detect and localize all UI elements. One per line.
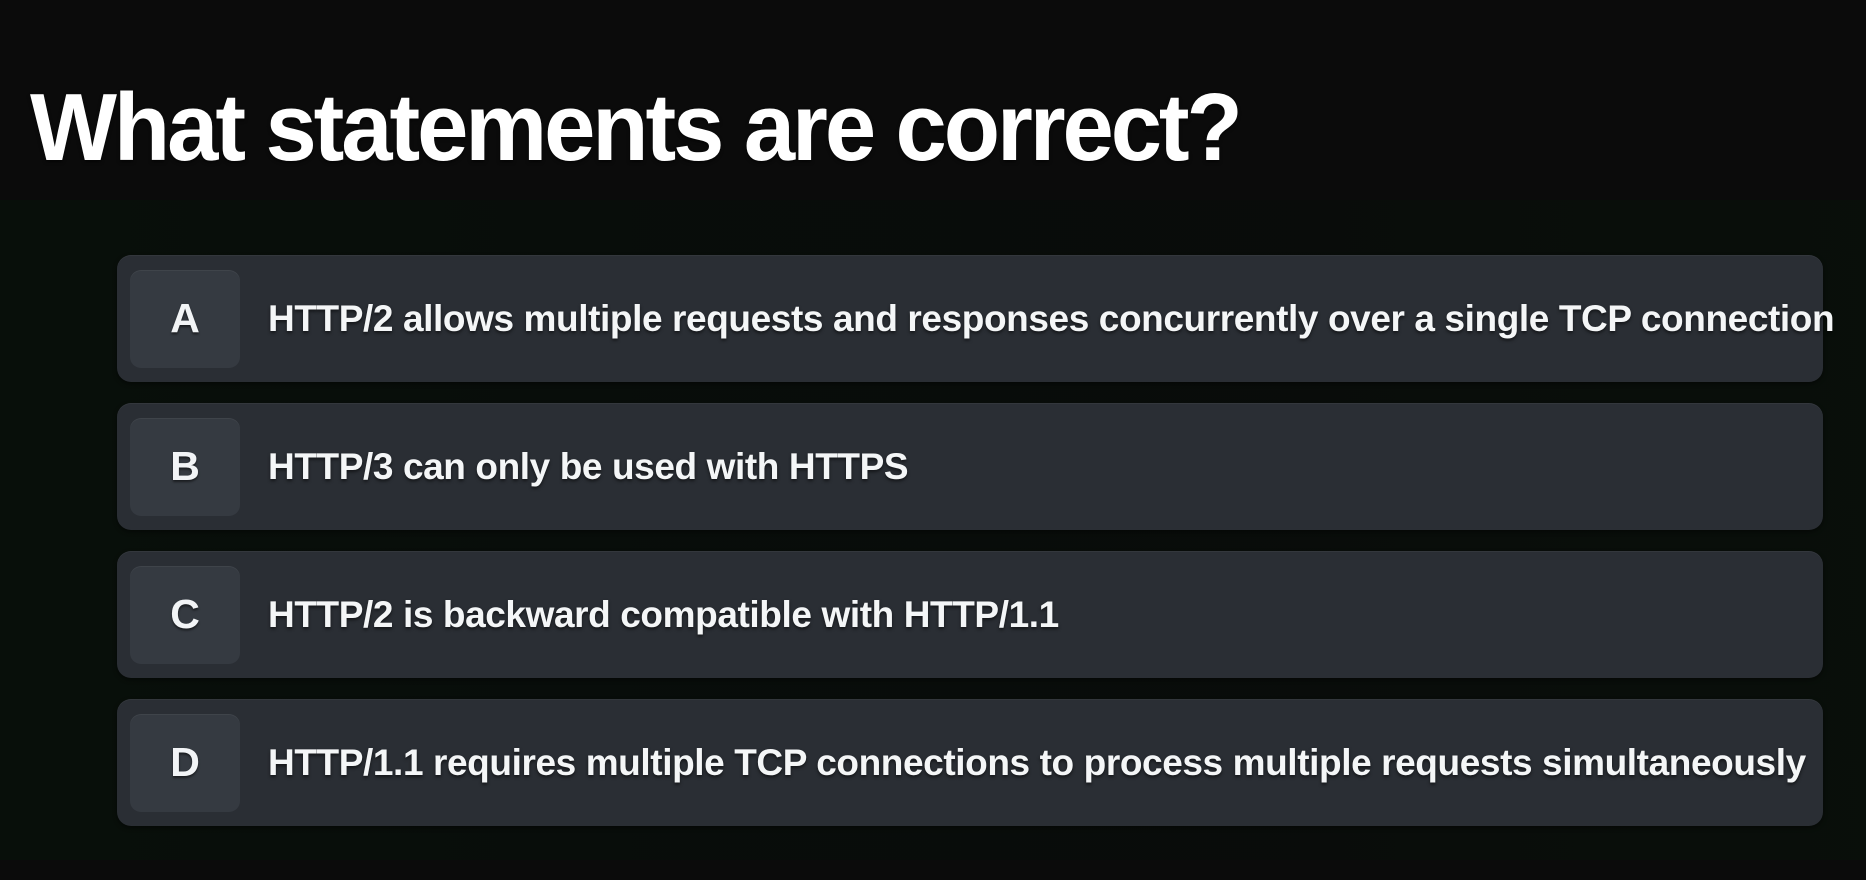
option-letter-c: C <box>170 594 200 635</box>
option-letter-badge-c[interactable]: C <box>130 566 240 664</box>
option-text-b: HTTP/3 can only be used with HTTPS <box>268 445 1823 489</box>
option-letter-badge-a[interactable]: A <box>130 270 240 368</box>
option-text-c: HTTP/2 is backward compatible with HTTP/… <box>268 593 1823 637</box>
quiz-option-b[interactable]: B HTTP/3 can only be used with HTTPS <box>117 403 1823 530</box>
quiz-option-a[interactable]: A HTTP/2 allows multiple requests and re… <box>117 255 1823 382</box>
option-letter-b: B <box>170 446 200 487</box>
option-letter-a: A <box>170 298 200 339</box>
quiz-option-c[interactable]: C HTTP/2 is backward compatible with HTT… <box>117 551 1823 678</box>
option-letter-d: D <box>170 742 200 783</box>
quiz-options-list: A HTTP/2 allows multiple requests and re… <box>117 255 1823 826</box>
option-letter-badge-d[interactable]: D <box>130 714 240 812</box>
option-letter-badge-b[interactable]: B <box>130 418 240 516</box>
option-text-d: HTTP/1.1 requires multiple TCP connectio… <box>268 741 1836 785</box>
quiz-option-d[interactable]: D HTTP/1.1 requires multiple TCP connect… <box>117 699 1823 826</box>
option-text-a: HTTP/2 allows multiple requests and resp… <box>268 297 1864 341</box>
page-title: What statements are correct? <box>30 76 1240 180</box>
